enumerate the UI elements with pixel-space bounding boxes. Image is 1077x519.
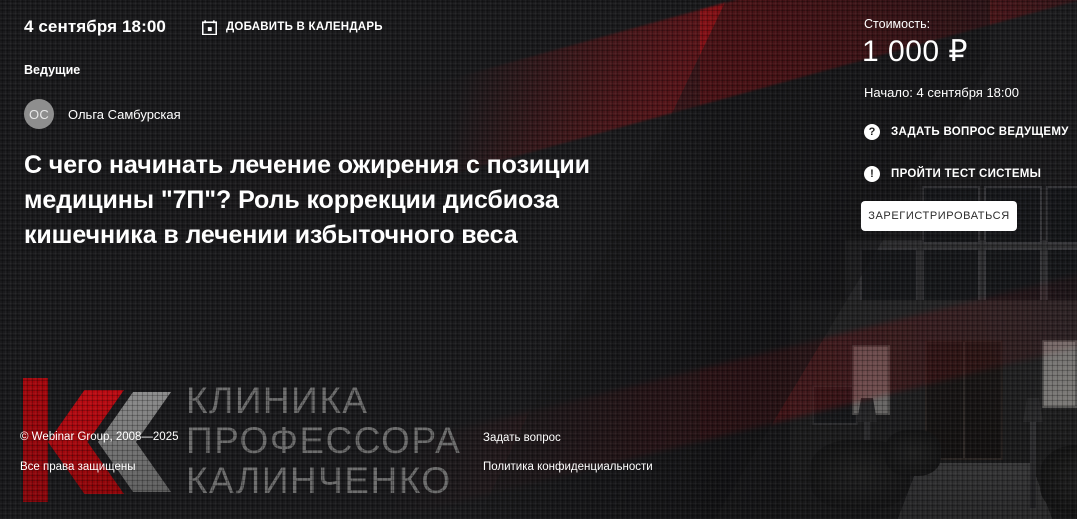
webinar-landing-page: КЛИНИКА ПРОФЕССОРА КАЛИНЧЕНКО 4 сентября…	[0, 0, 1077, 519]
ask-question-label: ЗАДАТЬ ВОПРОС ВЕДУЩЕМУ	[891, 126, 1069, 138]
host-name: Ольга Самбурская	[68, 107, 181, 122]
exclamation-mark-icon: !	[864, 166, 880, 182]
footer-copyright: © Webinar Group, 2008—2025	[20, 431, 179, 443]
hosts-section-label: Ведущие	[24, 63, 80, 77]
system-test-button[interactable]: ! ПРОЙТИ ТЕСТ СИСТЕМЫ	[864, 166, 1041, 182]
footer-link-ask-question[interactable]: Задать вопрос	[483, 432, 561, 444]
add-to-calendar-label: ДОБАВИТЬ В КАЛЕНДАРЬ	[226, 21, 383, 33]
system-test-label: ПРОЙТИ ТЕСТ СИСТЕМЫ	[891, 168, 1041, 180]
page-title: С чего начинать лечение ожирения с позиц…	[24, 148, 649, 253]
price-label: Стоимость:	[864, 17, 930, 31]
ask-question-to-host-button[interactable]: ? ЗАДАТЬ ВОПРОС ВЕДУЩЕМУ	[864, 124, 1069, 140]
start-time-text: Начало: 4 сентября 18:00	[864, 85, 1019, 100]
event-date: 4 сентября 18:00	[24, 17, 166, 37]
event-date-row: 4 сентября 18:00 ДОБАВИТЬ В КАЛЕНДАРЬ	[24, 17, 383, 37]
avatar: ОС	[24, 99, 54, 129]
add-to-calendar-button[interactable]: ДОБАВИТЬ В КАЛЕНДАРЬ	[202, 20, 383, 35]
page-content: 4 сентября 18:00 ДОБАВИТЬ В КАЛЕНДАРЬ Ве…	[0, 0, 1077, 519]
price-value: 1 000 ₽	[862, 34, 968, 69]
question-mark-icon: ?	[864, 124, 880, 140]
footer-rights: Все права защищены	[20, 461, 136, 473]
host-list-item[interactable]: ОС Ольга Самбурская	[24, 99, 181, 129]
calendar-icon	[202, 20, 217, 35]
register-button[interactable]: ЗАРЕГИСТРИРОВАТЬСЯ	[861, 201, 1017, 231]
footer-link-privacy-policy[interactable]: Политика конфиденциальности	[483, 461, 653, 473]
